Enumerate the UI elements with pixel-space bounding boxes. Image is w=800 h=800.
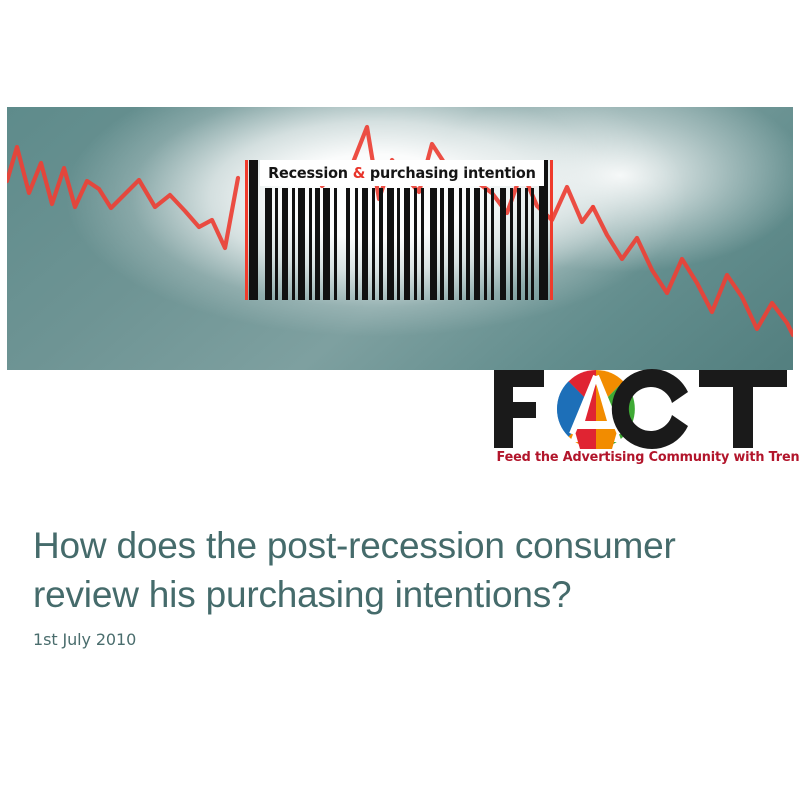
presentation-date: 1st July 2010 [33,630,136,649]
logo-a-base-left [574,428,596,449]
barcode-graphic: Recession & purchasing intention [243,160,557,300]
fact-wordmark [492,366,792,452]
barcode-title-ampersand: & [353,164,365,182]
barcode-title-suffix: purchasing intention [365,164,536,182]
barcode-title-prefix: Recession [268,164,353,182]
fact-tagline: Feed the Advertising Community with Tren… [497,450,788,465]
barcode-edge-line-right [550,160,553,300]
barcode-bar-group [265,188,534,300]
logo-a-base-right [596,428,618,449]
page-title: How does the post-recession consumer rev… [33,521,763,619]
trend-line-tail [593,207,793,335]
page-title-line-2: review his purchasing intentions? [33,570,763,619]
barcode-title-text: Recession & purchasing intention [268,164,536,182]
logo-letter-f [494,370,544,448]
logo-letter-c [612,369,688,449]
page-title-line-1: How does the post-recession consumer [33,521,763,570]
title-slide: Recession & purchasing intention [0,0,800,800]
barcode-guard-bar-left [249,160,258,300]
trend-line-left [7,147,238,248]
logo-letter-t [699,370,787,448]
barcode-title-label: Recession & purchasing intention [260,160,544,186]
barcode-edge-line-left [245,160,248,300]
fact-logo: Feed the Advertising Community with Tren… [492,366,792,478]
